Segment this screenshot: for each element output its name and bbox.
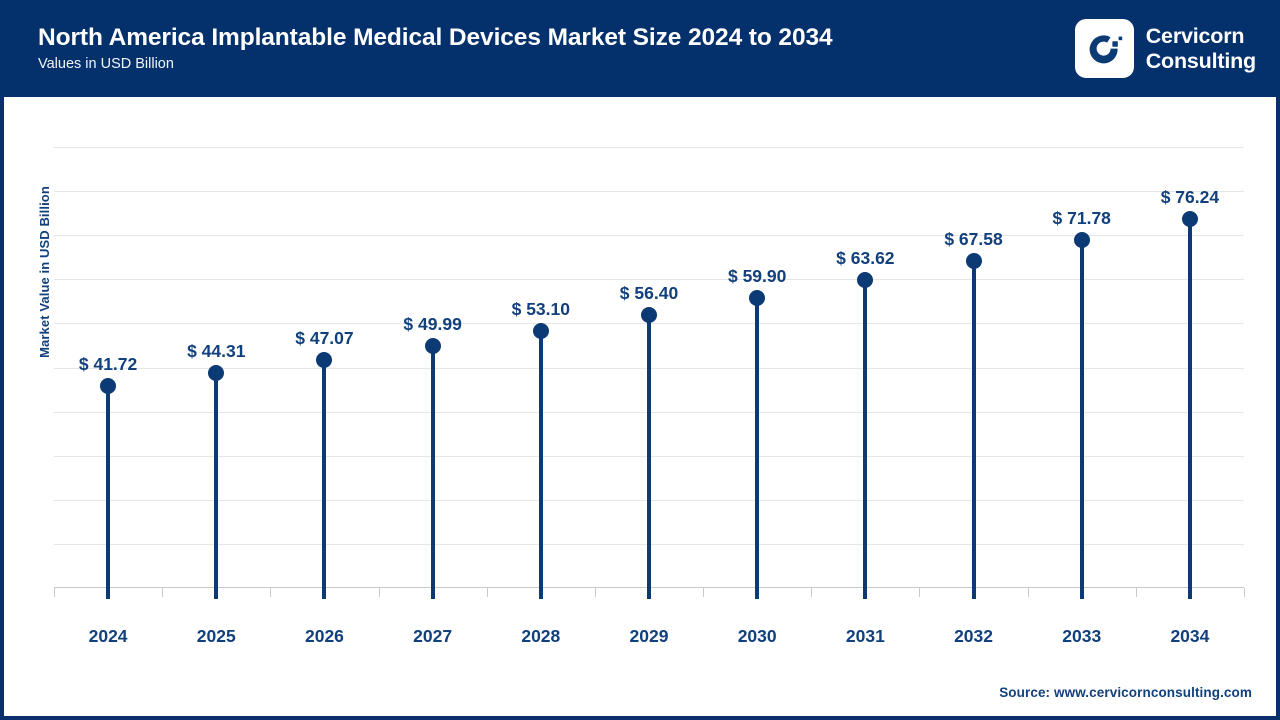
x-axis-category-label: 2034 <box>1128 626 1252 647</box>
chart-page: North America Implantable Medical Device… <box>0 0 1280 720</box>
data-point-value-label: $ 41.72 <box>46 354 170 375</box>
data-point-value-label: $ 53.10 <box>479 299 603 320</box>
category-tick <box>1028 588 1029 597</box>
page-title: North America Implantable Medical Device… <box>38 23 833 53</box>
category-tick <box>919 588 920 597</box>
data-point-value-label: $ 49.99 <box>371 314 495 335</box>
data-point-stem <box>214 373 218 599</box>
data-point-stem <box>1080 240 1084 599</box>
data-point-marker[interactable] <box>857 272 873 288</box>
x-axis-category-label: 2025 <box>154 626 278 647</box>
data-point-marker[interactable] <box>316 352 332 368</box>
plot-area: $ 41.722024$ 44.312025$ 47.072026$ 49.99… <box>54 147 1244 588</box>
data-point-value-label: $ 59.90 <box>695 266 819 287</box>
x-axis-category-label: 2033 <box>1020 626 1144 647</box>
data-point-stem <box>431 346 435 599</box>
data-point-stem <box>755 298 759 599</box>
data-point-value-label: $ 76.24 <box>1128 187 1252 208</box>
category-tick <box>54 588 55 597</box>
chart-plot-wrapper: Market Value in USD Billion $ 41.722024$… <box>4 97 1276 716</box>
data-point-stem <box>972 261 976 600</box>
data-point-value-label: $ 63.62 <box>803 248 927 269</box>
data-point-value-label: $ 44.31 <box>154 341 278 362</box>
data-point-stem <box>322 360 326 599</box>
data-point-marker[interactable] <box>641 307 657 323</box>
data-point-stem <box>106 386 110 599</box>
data-point-stem <box>539 331 543 599</box>
data-point-stem <box>1188 219 1192 599</box>
data-point-marker[interactable] <box>100 378 116 394</box>
brand-logo-line2: Consulting <box>1146 49 1256 73</box>
cervicorn-c-logo-icon <box>1075 19 1134 78</box>
data-point-value-label: $ 56.40 <box>587 283 711 304</box>
data-point-value-label: $ 47.07 <box>262 328 386 349</box>
category-tick <box>1136 588 1137 597</box>
category-tick <box>379 588 380 597</box>
page-subtitle: Values in USD Billion <box>38 55 833 75</box>
data-point-marker[interactable] <box>1074 232 1090 248</box>
y-axis-title: Market Value in USD Billion <box>34 157 56 387</box>
source-note: Source: www.cervicornconsulting.com <box>999 685 1252 700</box>
x-axis-category-label: 2031 <box>803 626 927 647</box>
data-point-stem <box>647 315 651 599</box>
brand-logo: Cervicorn Consulting <box>1075 19 1256 78</box>
data-point-marker[interactable] <box>208 365 224 381</box>
data-point-marker[interactable] <box>749 290 765 306</box>
data-point-value-label: $ 71.78 <box>1020 208 1144 229</box>
category-tick <box>270 588 271 597</box>
data-point-stem <box>863 280 867 599</box>
brand-logo-line1: Cervicorn <box>1146 24 1256 48</box>
x-axis-category-label: 2032 <box>912 626 1036 647</box>
chart-header: North America Implantable Medical Device… <box>0 0 1280 97</box>
data-point-marker[interactable] <box>966 253 982 269</box>
x-axis-category-label: 2028 <box>479 626 603 647</box>
x-axis-category-label: 2030 <box>695 626 819 647</box>
category-tick <box>703 588 704 597</box>
category-tick <box>595 588 596 597</box>
data-point-value-label: $ 67.58 <box>912 229 1036 250</box>
x-axis-category-label: 2027 <box>371 626 495 647</box>
data-series-lollipop: $ 41.722024$ 44.312025$ 47.072026$ 49.99… <box>54 147 1244 588</box>
header-text-group: North America Implantable Medical Device… <box>38 23 833 74</box>
data-point-marker[interactable] <box>425 338 441 354</box>
category-tick <box>811 588 812 597</box>
category-tick <box>162 588 163 597</box>
category-tick <box>487 588 488 597</box>
category-tick <box>1244 588 1245 597</box>
data-point-marker[interactable] <box>533 323 549 339</box>
x-axis-category-label: 2024 <box>46 626 170 647</box>
x-axis-category-label: 2026 <box>262 626 386 647</box>
x-axis-category-label: 2029 <box>587 626 711 647</box>
brand-logo-text: Cervicorn Consulting <box>1146 24 1256 72</box>
data-point-marker[interactable] <box>1182 211 1198 227</box>
